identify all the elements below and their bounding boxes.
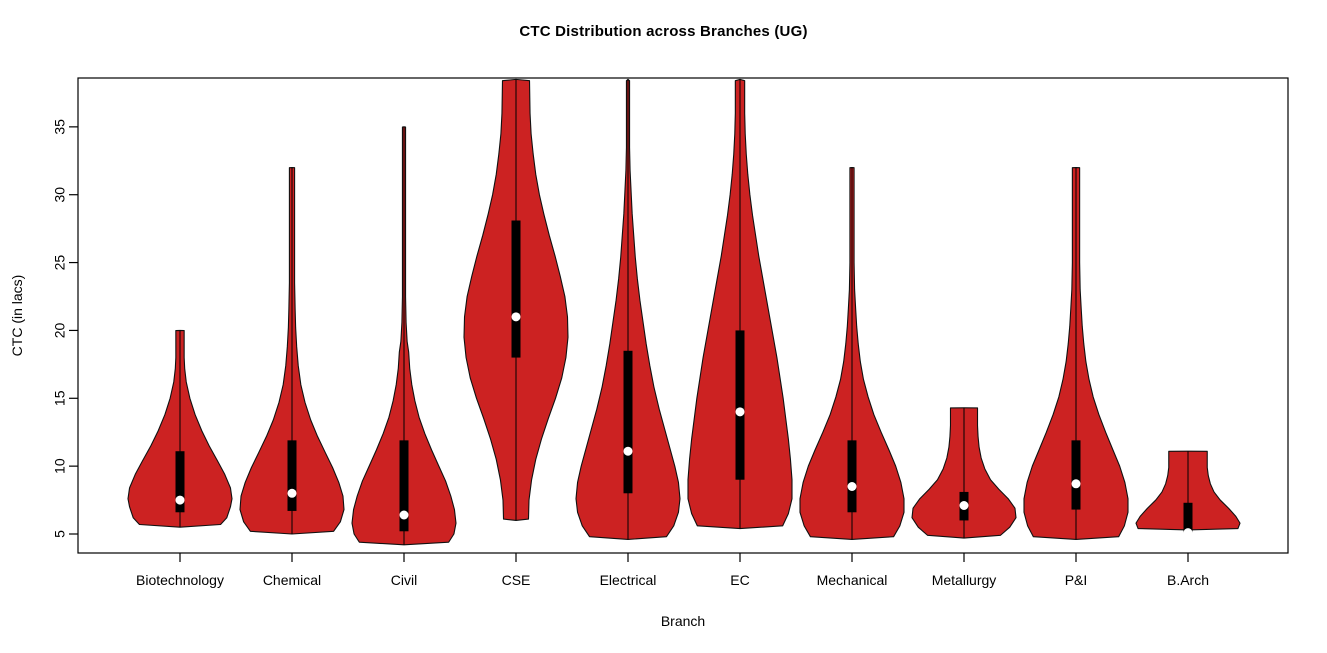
violin-ec[interactable] (688, 79, 792, 528)
x-axis-tick-label-biotechnology: Biotechnology (136, 572, 224, 588)
y-axis-title: CTC (in lacs) (9, 275, 25, 357)
y-axis-tick-label: 30 (52, 187, 68, 203)
y-axis-tick-label: 25 (52, 255, 68, 271)
y-axis-tick-label: 5 (52, 530, 68, 538)
violin-cse[interactable] (464, 79, 568, 520)
violin-plot-figure: CTC Distribution across Branches (UG) 51… (0, 0, 1327, 653)
x-axis-tick-label-mechanical: Mechanical (817, 572, 888, 588)
violin-civil[interactable] (352, 127, 456, 545)
x-axis-tick-label-chemical: Chemical (263, 572, 321, 588)
y-axis-tick-label: 10 (52, 458, 68, 474)
x-axis-tick-label-b-arch: B.Arch (1167, 572, 1209, 588)
violin-chemical[interactable] (240, 168, 344, 534)
violin-p-i[interactable] (1024, 168, 1128, 540)
median-marker (736, 407, 745, 416)
median-marker (176, 496, 185, 505)
x-axis-tick-label-p-i: P&I (1065, 572, 1088, 588)
x-axis-tick-label-civil: Civil (391, 572, 417, 588)
violins-layer (128, 79, 1240, 545)
chart-canvas: 5101520253035BiotechnologyChemicalCivilC… (0, 0, 1327, 653)
iqr-box (288, 440, 297, 511)
violin-metallurgy[interactable] (912, 408, 1016, 538)
violin-biotechnology[interactable] (128, 330, 232, 527)
x-axis-title: Branch (661, 613, 705, 629)
x-axis-tick-label-metallurgy: Metallurgy (932, 572, 997, 588)
iqr-box (1072, 440, 1081, 509)
iqr-box (848, 440, 857, 512)
median-marker (288, 489, 297, 498)
median-marker (624, 447, 633, 456)
median-marker (960, 501, 969, 510)
violin-b-arch[interactable] (1136, 451, 1240, 537)
iqr-box (512, 221, 521, 358)
y-axis-tick-label: 35 (52, 119, 68, 135)
x-axis-tick-label-cse: CSE (502, 572, 531, 588)
y-axis-tick-label: 15 (52, 390, 68, 406)
median-marker (400, 511, 409, 520)
median-marker (1072, 479, 1081, 488)
violin-electrical[interactable] (576, 79, 680, 539)
median-marker (1184, 528, 1193, 537)
iqr-box (736, 330, 745, 479)
violin-mechanical[interactable] (800, 168, 904, 540)
x-axis-tick-label-electrical: Electrical (600, 572, 657, 588)
median-marker (512, 312, 521, 321)
x-axis-tick-label-ec: EC (730, 572, 749, 588)
iqr-box (624, 351, 633, 494)
median-marker (848, 482, 857, 491)
y-axis-tick-label: 20 (52, 322, 68, 338)
